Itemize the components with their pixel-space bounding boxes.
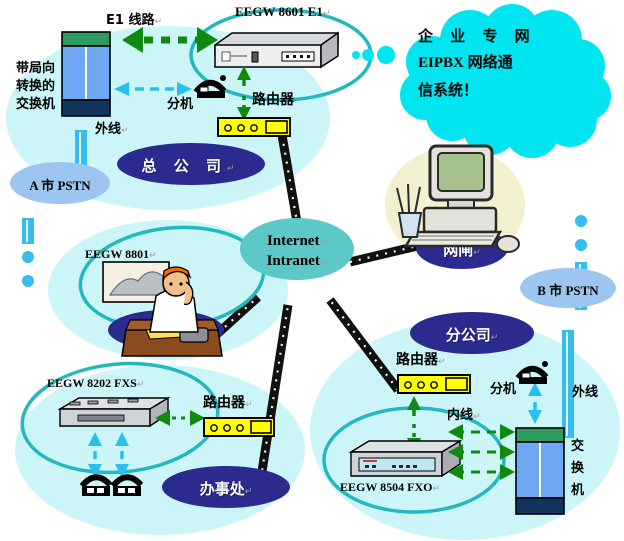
callout-tail-3 (352, 51, 360, 59)
zone-blob-branch (310, 320, 620, 540)
callout-line-2: EIPBX 网络通 (418, 52, 513, 75)
link-office-to-internet (258, 305, 288, 497)
eegw8601-label: EEGW 8601 E1↵ (235, 5, 330, 19)
ellipse-office-label: 办事处↵ (176, 478, 276, 499)
phone-icon-branch (518, 361, 548, 384)
switch-head-label-line3: 交换机 (16, 98, 55, 112)
callout-line-1: 企 业 专 网 (418, 25, 536, 48)
ring-eegw8601 (191, 10, 371, 100)
e1-arrow-right (197, 27, 218, 53)
internet-node-label: Internet↵ Intranet↵ (247, 231, 347, 272)
router-head-label: 路由器 (252, 93, 294, 108)
switch-branch-label-c3: 机 (571, 484, 584, 498)
ellipse-soho-label: SOHO 族 (116, 322, 216, 342)
eegw8202-label: EEGW 8202 FXS↵ (47, 377, 144, 390)
switch-branch-label-c1: 交 (571, 440, 584, 454)
e1-line-label: E1 线路↵ (106, 14, 162, 28)
phone-icon-head (196, 75, 226, 98)
ext-branch-label: 分机 (490, 383, 516, 397)
callout-tail-1 (377, 46, 395, 64)
router-branch-label: 路由器↵ (396, 353, 446, 368)
switch-head-label-line2: 转换的 (16, 80, 55, 94)
ellipse-branch-label: 分公司↵ (422, 324, 522, 345)
trunk-head-label: 外线↵ (95, 123, 129, 137)
ellipse-gateway-label: 网闸↵ (412, 239, 512, 260)
switch-head-label-line1: 带局向 (16, 62, 55, 76)
trunk-branch-label: 外线 (572, 386, 598, 400)
ring-eegw8202 (18, 356, 223, 481)
phone-icon-office-2 (113, 477, 141, 496)
ellipse-head-office-label: 总 公 司↵ (141, 155, 241, 176)
e1-arrow-left (122, 27, 143, 53)
pstn-dot-b2 (575, 239, 587, 251)
router-office-label: 路由器↵ (203, 396, 253, 411)
pstn-pipe-b-lower (562, 330, 574, 438)
phone-icon-office-1 (82, 477, 110, 496)
switch-branch-label-c2: 换 (571, 462, 584, 476)
pstn-dot-b1 (575, 215, 587, 227)
link-head-office-to-internet (282, 135, 297, 222)
link-branch-to-internet (330, 300, 398, 390)
ellipse-pstn-a-label: A 市 PSTN (10, 175, 110, 194)
ring-eegw8504 (324, 408, 504, 512)
pstn-dot-a2 (22, 275, 34, 287)
pstn-pipe-a-lower (22, 218, 34, 244)
network-diagram: 企 业 专 网 EIPBX 网络通 信系统！ 带局向 转换的 交换机 EEGW … (0, 0, 624, 541)
callout-line-3: 信系统！ (418, 79, 478, 102)
inner-branch-label: 内线↵ (447, 409, 481, 423)
eegw8504-label: EEGW 8504 FXO↵ (340, 481, 440, 494)
callout-tail-2 (362, 49, 374, 61)
ext-head-label: 分机 (167, 98, 193, 112)
ellipse-pstn-b-label: B 市 PSTN (518, 280, 618, 299)
zone-blob-office (15, 365, 305, 535)
ring-eegw8801 (75, 219, 268, 338)
eegw8801-label: EEGW 8801↵ (85, 248, 157, 261)
pstn-dot-a1 (22, 251, 34, 263)
